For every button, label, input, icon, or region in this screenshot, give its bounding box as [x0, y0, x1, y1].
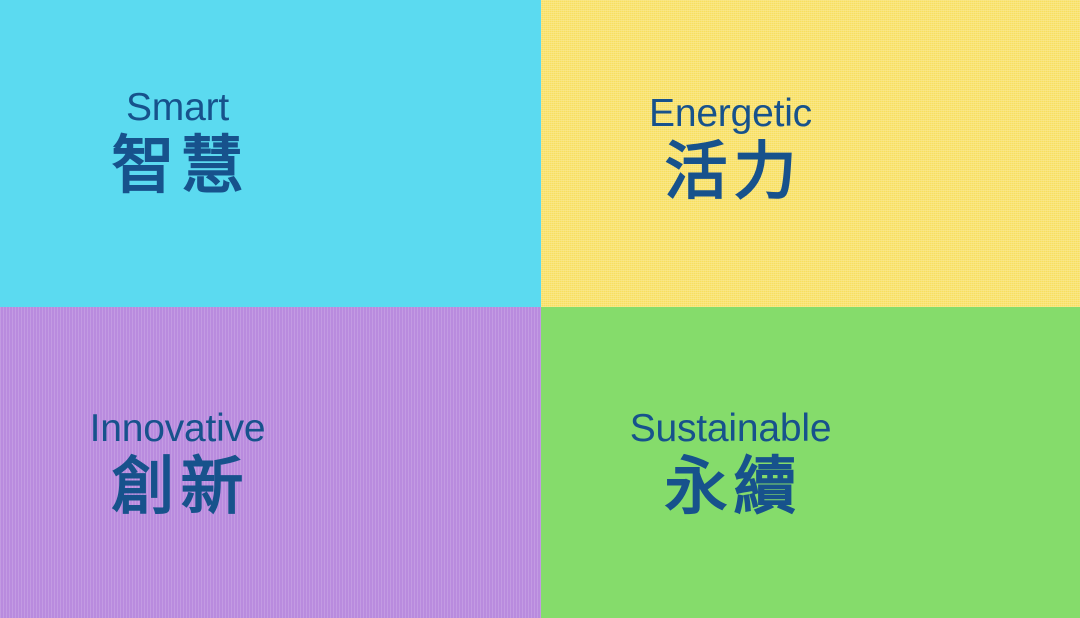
- quadrant-energetic-chinese-label: 活力: [547, 137, 920, 208]
- quadrant-smart-english-label: Smart: [0, 88, 355, 127]
- quadrant-smart-text: Smart 智慧: [0, 88, 355, 202]
- quadrant-sustainable: Sustainable 永續: [541, 307, 1080, 618]
- brand-values-board: Smart 智慧 Energetic 活力 Innovative 創新 Sust…: [0, 0, 1080, 618]
- quadrant-energetic-text: Energetic 活力: [541, 94, 920, 208]
- quadrant-energetic-english-label: Energetic: [541, 94, 920, 133]
- quadrant-innovative-english-label: Innovative: [0, 409, 355, 448]
- quadrant-sustainable-english-label: Sustainable: [541, 409, 920, 448]
- quadrant-sustainable-text: Sustainable 永續: [541, 409, 920, 523]
- quadrant-innovative: Innovative 創新: [0, 307, 541, 618]
- quadrant-energetic: Energetic 活力: [541, 0, 1080, 307]
- quadrant-smart-chinese-label: 智慧: [6, 131, 355, 202]
- quadrant-smart: Smart 智慧: [0, 0, 541, 307]
- quadrant-sustainable-chinese-label: 永續: [547, 452, 920, 523]
- quadrant-innovative-text: Innovative 創新: [0, 409, 355, 523]
- quadrant-innovative-chinese-label: 創新: [6, 452, 355, 523]
- value-quadrant-grid: Smart 智慧 Energetic 活力 Innovative 創新 Sust…: [0, 0, 1080, 618]
